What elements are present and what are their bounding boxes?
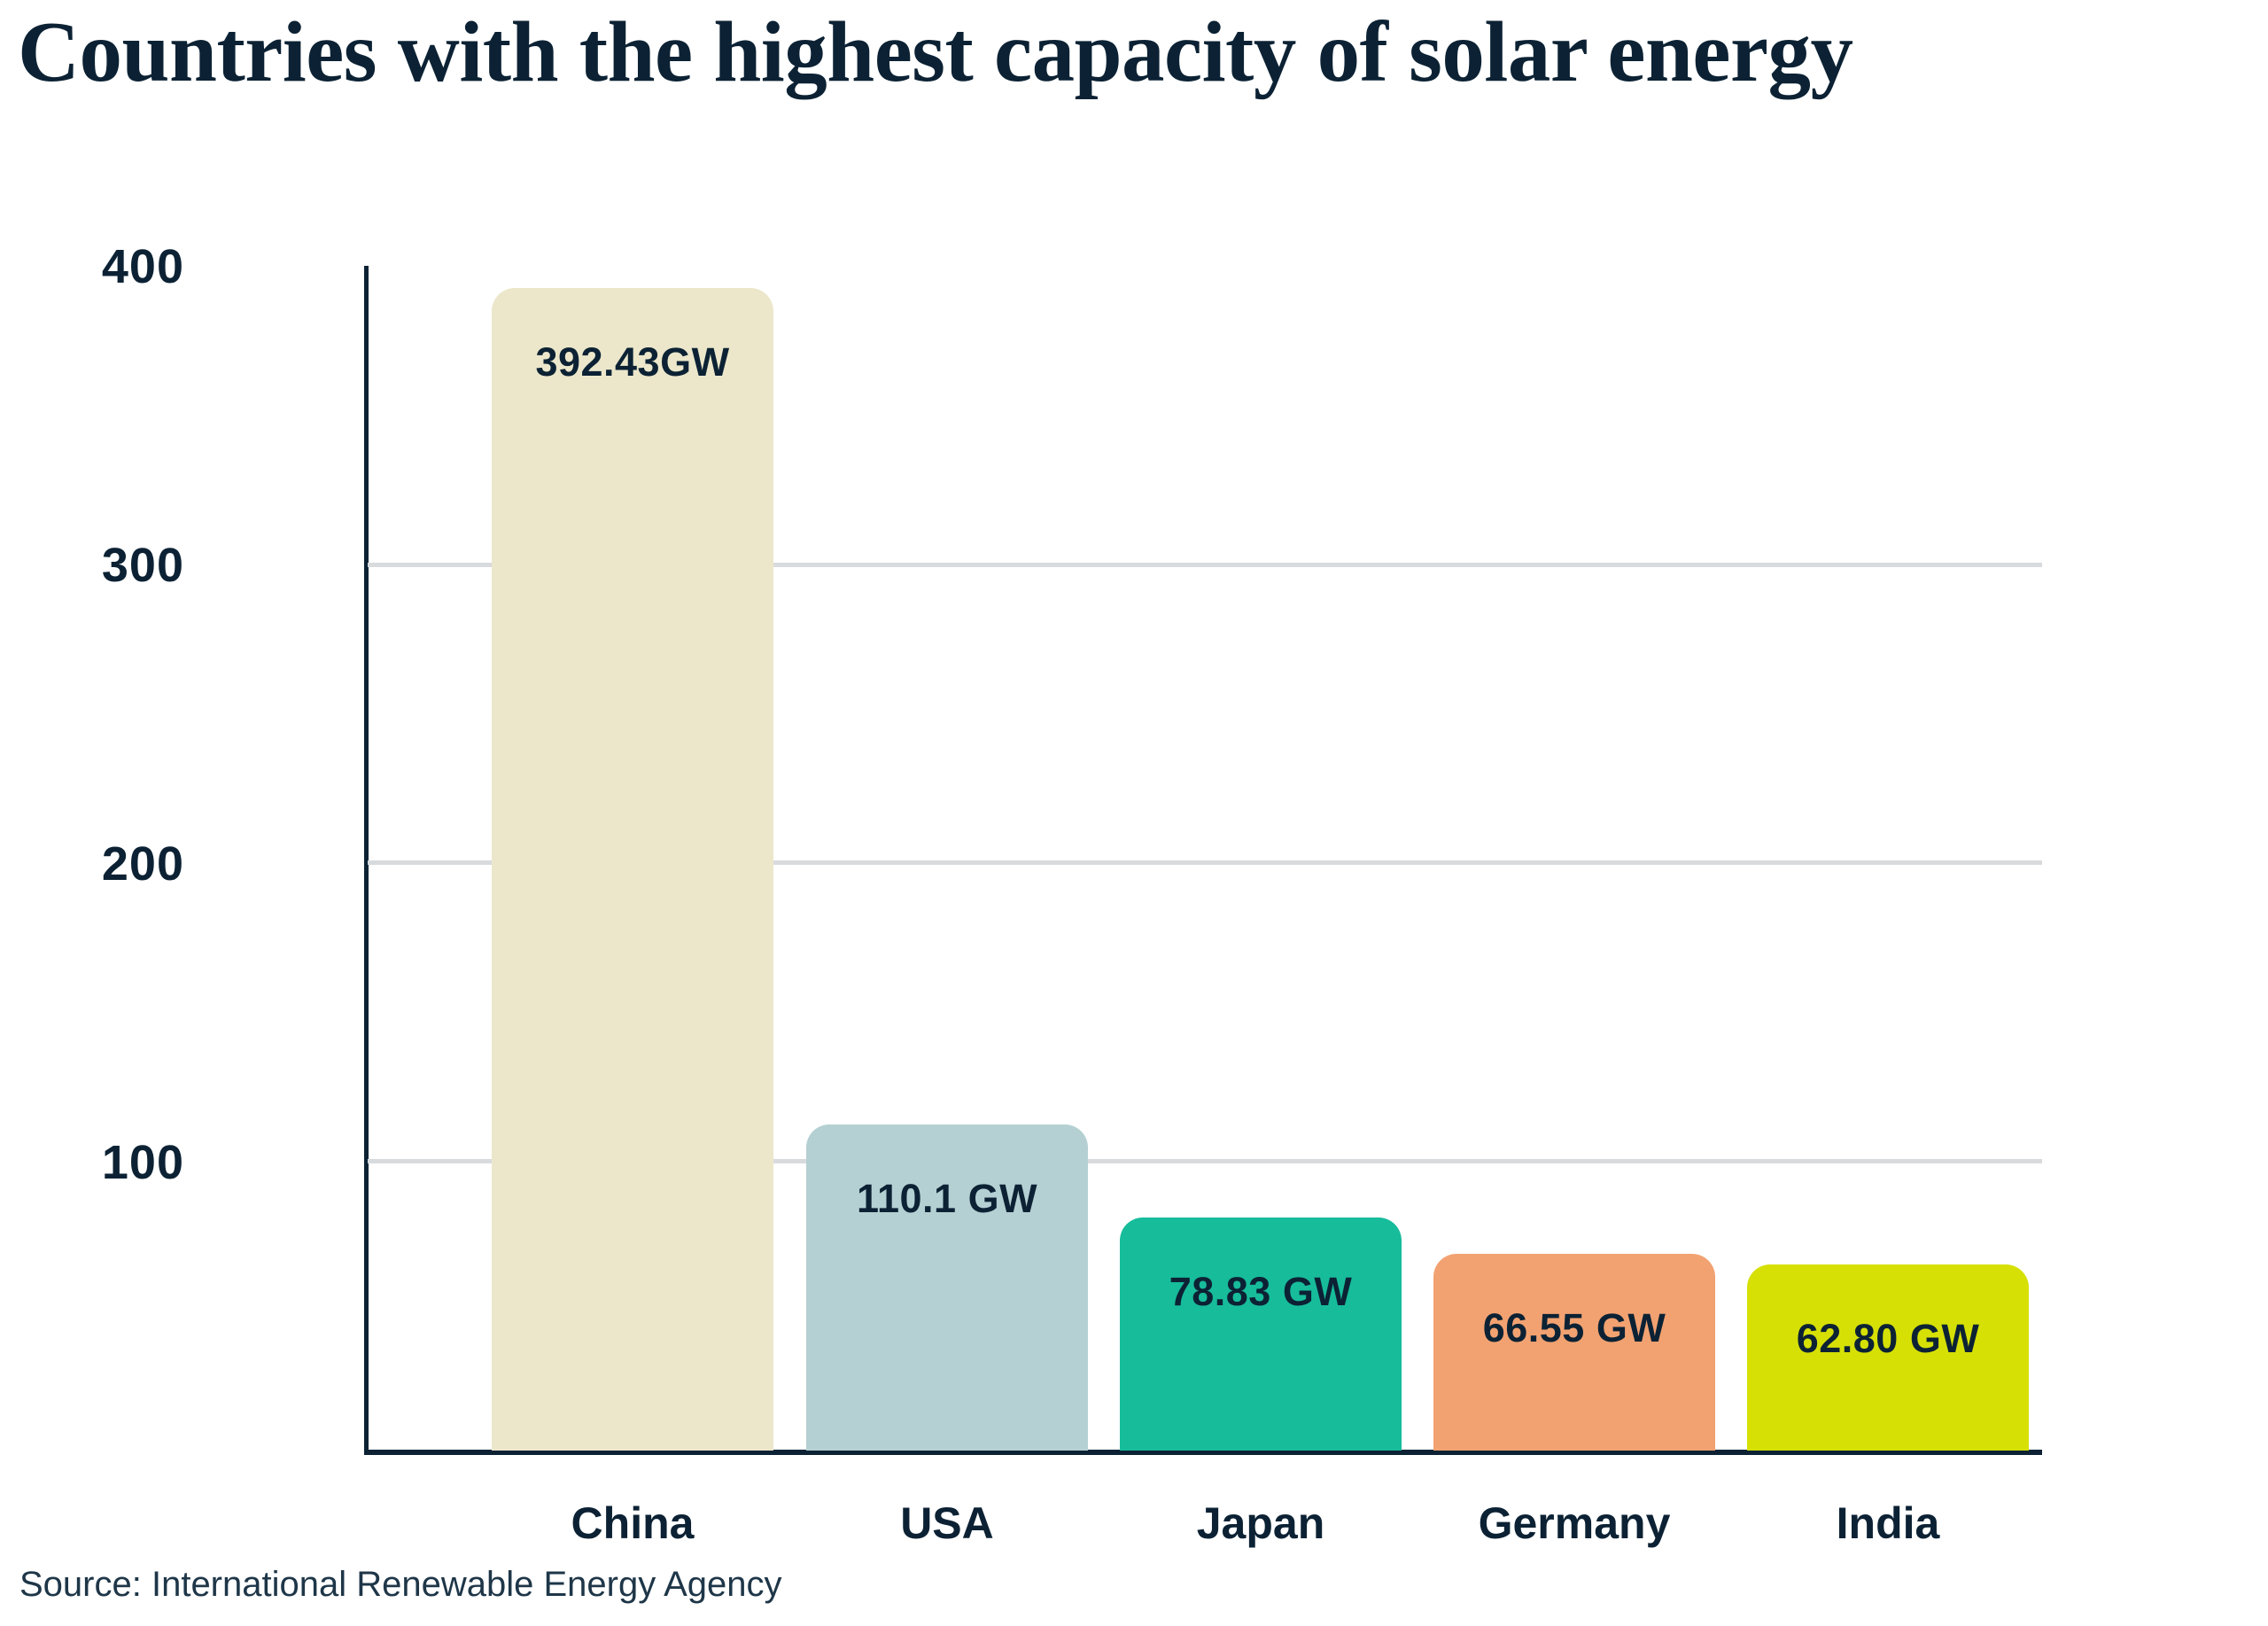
x-axis-label-india: India [1747, 1498, 2029, 1549]
y-axis-tick-200: 200 [0, 836, 184, 891]
x-axis-label-japan: Japan [1120, 1498, 1402, 1549]
bar-germany[interactable]: 66.55 GW [1433, 1254, 1715, 1451]
bar-value-usa: 110.1 GW [806, 1176, 1088, 1222]
y-axis-tick-100: 100 [0, 1135, 184, 1190]
bar-usa[interactable]: 110.1 GW [806, 1124, 1088, 1451]
y-axis-tick-400: 400 [0, 239, 184, 294]
plot-area: 392.43GW 110.1 GW 78.83 GW 66.55 GW 62.8… [368, 266, 2042, 1451]
x-axis-label-usa: USA [806, 1498, 1088, 1549]
source-note: Source: International Renewable Energy A… [19, 1565, 782, 1605]
bar-value-japan: 78.83 GW [1120, 1269, 1402, 1315]
bar-china[interactable]: 392.43GW [492, 288, 773, 1451]
y-axis-tick-300: 300 [0, 538, 184, 593]
bar-value-germany: 66.55 GW [1433, 1305, 1715, 1351]
page-title: Countries with the highest capacity of s… [18, 5, 2250, 100]
x-axis-label-china: China [492, 1498, 773, 1549]
bar-value-india: 62.80 GW [1747, 1316, 2029, 1362]
bar-value-china: 392.43GW [492, 339, 773, 385]
bar-india[interactable]: 62.80 GW [1747, 1264, 2029, 1451]
x-axis-label-germany: Germany [1433, 1498, 1715, 1549]
bar-japan[interactable]: 78.83 GW [1120, 1218, 1402, 1451]
